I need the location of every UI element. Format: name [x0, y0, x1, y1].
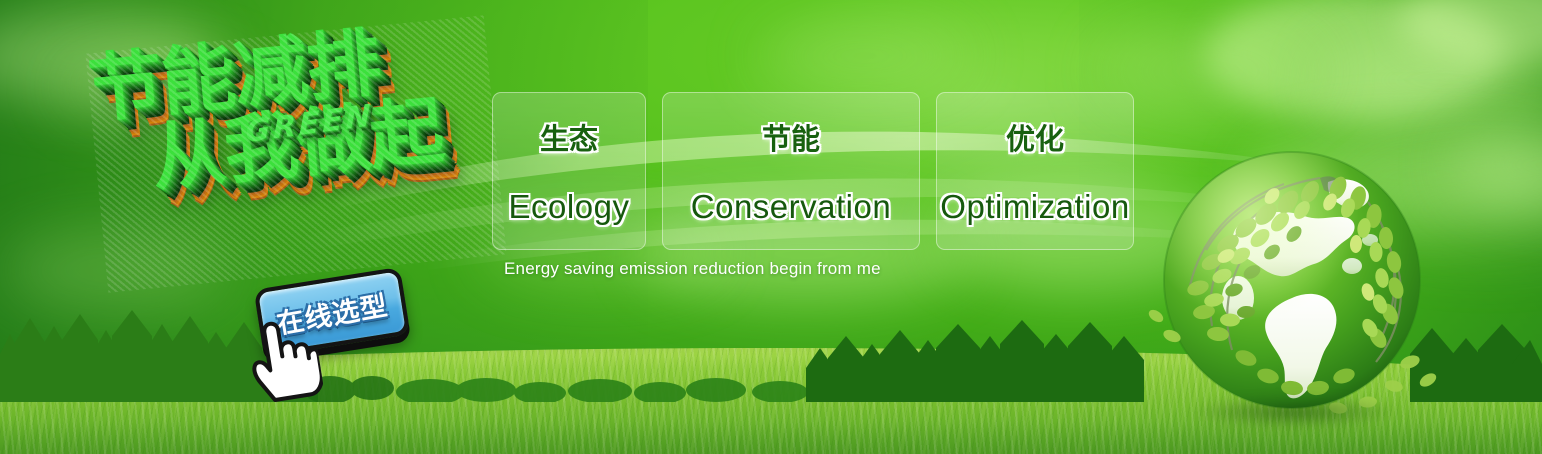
- headline-3d: 节能减排 从我做起 GREEN: [85, 15, 506, 292]
- feature-card-conservation-en: Conservation: [691, 188, 891, 226]
- globe-graphic: [1142, 130, 1442, 430]
- feature-card-ecology-cn: 生态: [540, 116, 598, 158]
- feature-card-conservation[interactable]: 节能 Conservation: [662, 92, 920, 250]
- feature-card-ecology[interactable]: 生态 Ecology: [492, 92, 646, 250]
- feature-card-list: 生态 Ecology 节能 Conservation 优化 Optimizati…: [492, 92, 1134, 250]
- feature-card-ecology-en: Ecology: [509, 188, 630, 226]
- feature-card-conservation-cn: 节能: [762, 116, 820, 158]
- cloud-icon: [760, 24, 970, 88]
- tagline-text: Energy saving emission reduction begin f…: [504, 259, 881, 279]
- online-selection-label: 在线选型: [273, 283, 390, 341]
- globe-ground-shadow: [1156, 390, 1434, 434]
- feature-card-optimization-en: Optimization: [940, 188, 1129, 226]
- feature-card-optimization[interactable]: 优化 Optimization: [936, 92, 1134, 250]
- eco-promo-banner: 节能减排 从我做起 GREEN 在线选型 生态 Ecology 节能 Conse…: [0, 0, 1542, 454]
- leafy-earth-globe-icon: [1142, 130, 1442, 430]
- feature-card-optimization-cn: 优化: [1006, 116, 1064, 158]
